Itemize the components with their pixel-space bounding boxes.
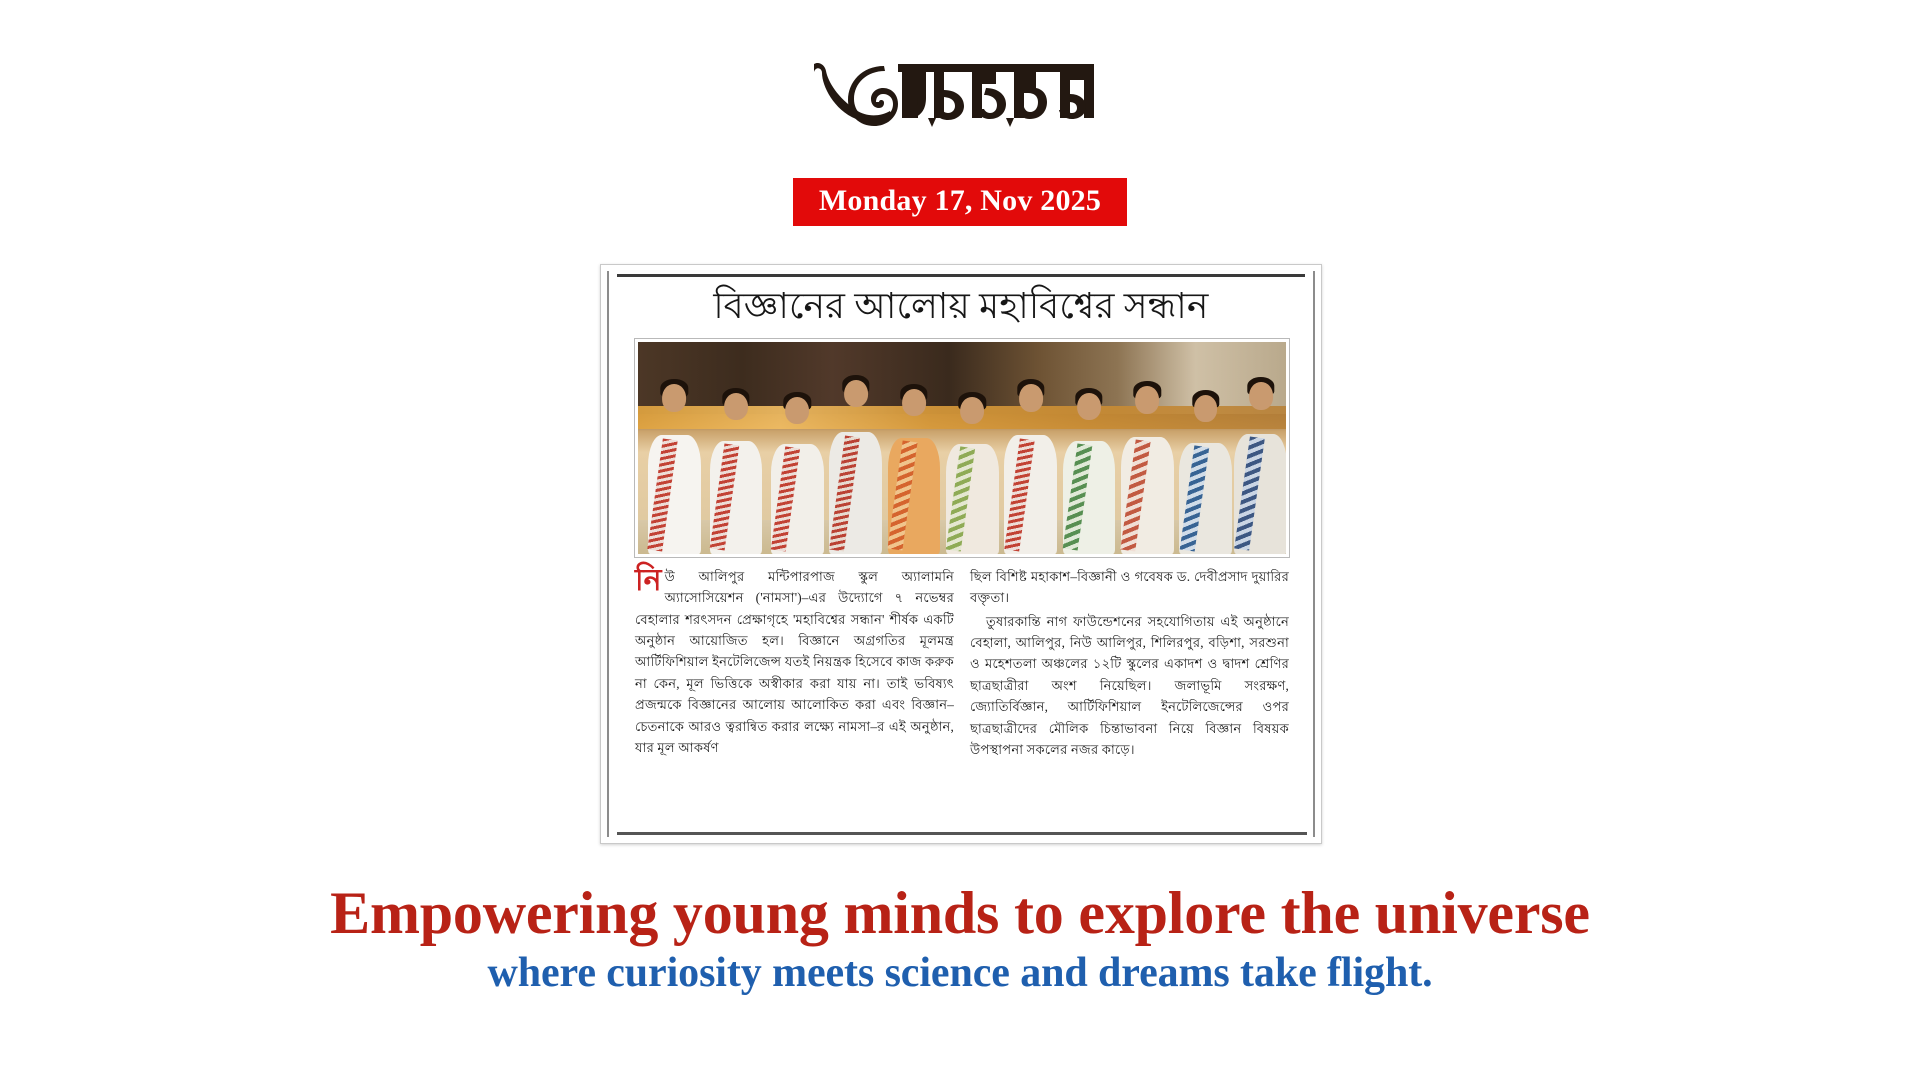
dropcap: নি [635, 568, 662, 594]
caption-subheadline: where curiosity meets science and dreams… [0, 948, 1920, 998]
caption-headline: Empowering young minds to explore the un… [0, 880, 1920, 946]
caption-block: Empowering young minds to explore the un… [0, 880, 1920, 998]
newspaper-clipping[interactable]: বিজ্ঞানের আলোয় মহাবিশ্বের সন্ধান [600, 264, 1322, 844]
photo-person [1231, 382, 1289, 554]
photo-person [1001, 384, 1061, 554]
page-root: Monday 17, Nov 2025 বিজ্ঞানের আলোয় মহাব… [0, 0, 1920, 1080]
date-badge-container: Monday 17, Nov 2025 [0, 178, 1920, 226]
clipping-paragraph: উ আলিপুর মন্টিপারপাজ স্কুল অ্যালামনি অ্য… [635, 569, 954, 755]
photo-people-group [638, 342, 1286, 554]
clipping-left-rule [607, 271, 609, 837]
photo-person [644, 384, 704, 554]
clipping-paragraph: ছিল বিশিষ্ট মহাকাশ–বিজ্ঞানী ও গবেষক ড. দ… [970, 566, 1289, 609]
aajkaal-logo-icon[interactable] [810, 52, 1110, 143]
photo-person [706, 393, 766, 554]
photo-image [638, 342, 1286, 554]
date-badge: Monday 17, Nov 2025 [793, 178, 1127, 226]
clipping-bottom-rule [617, 832, 1307, 835]
clipping-paragraph: তুষারকান্তি নাগ ফাউন্ডেশনের সহযোগিতায় এ… [970, 611, 1289, 761]
clipping-right-rule [1313, 271, 1315, 837]
photo-person [826, 380, 886, 554]
clipping-top-rule [617, 274, 1305, 277]
clipping-column-left: নিউ আলিপুর মন্টিপারপাজ স্কুল অ্যালামনি অ… [635, 566, 954, 762]
clipping-columns: নিউ আলিপুর মন্টিপারপাজ স্কুল অ্যালামনি অ… [635, 566, 1289, 762]
clipping-inner: বিজ্ঞানের আলোয় মহাবিশ্বের সন্ধান [601, 265, 1321, 843]
photo-person [1059, 393, 1119, 554]
photo-person [884, 389, 944, 554]
clipping-headline: বিজ্ঞানের আলোয় মহাবিশ্বের সন্ধান [613, 279, 1309, 339]
photo-person [768, 397, 828, 554]
photo-person [1118, 386, 1178, 553]
masthead [0, 52, 1920, 143]
clipping-column-right: ছিল বিশিষ্ট মহাকাশ–বিজ্ঞানী ও গবেষক ড. দ… [970, 566, 1289, 762]
photo-person [1176, 395, 1236, 554]
photo-person [943, 397, 1003, 554]
clipping-photo [635, 339, 1289, 557]
